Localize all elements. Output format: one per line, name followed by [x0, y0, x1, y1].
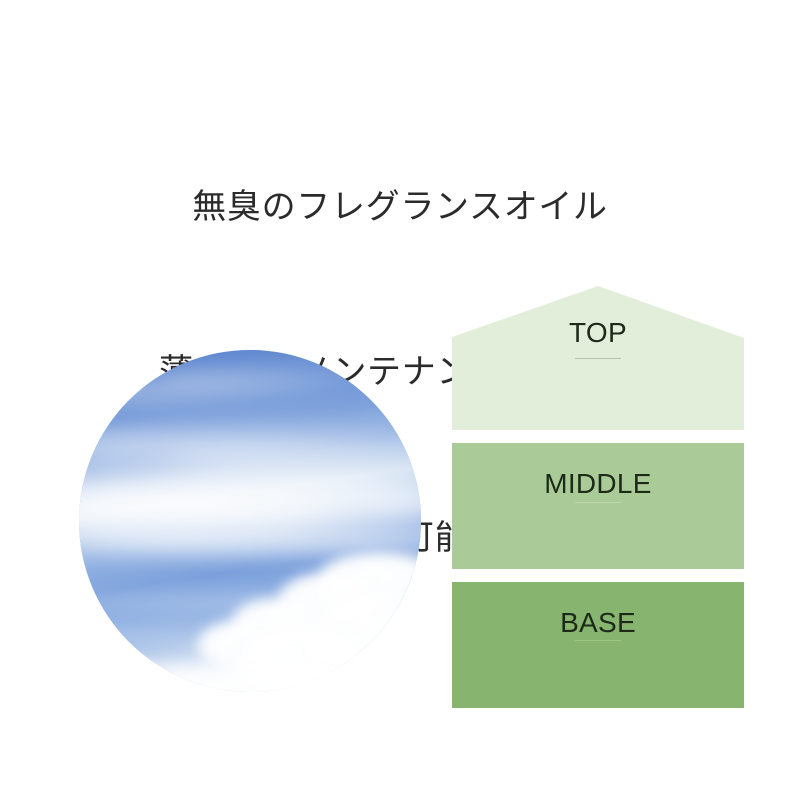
sky-clouds-illustration	[79, 350, 421, 692]
pyramid-tier-base-label: BASE	[452, 609, 744, 637]
poster-canvas: 無臭のフレグランスオイル 薄め液やメンテナンスとしても 使用可能	[0, 0, 800, 800]
fragrance-note-pyramid: TOP MIDDLE BASE	[452, 286, 744, 708]
pyramid-tier-middle-label: MIDDLE	[452, 470, 744, 498]
pyramid-tier-base: BASE	[452, 582, 744, 708]
pyramid-tier-middle-divider	[575, 502, 621, 503]
headline-line-1: 無臭のフレグランスオイル	[0, 180, 800, 235]
pyramid-tier-top-label: TOP	[452, 319, 744, 347]
sky-clouds-photo	[79, 350, 421, 692]
pyramid-tier-top: TOP	[452, 286, 744, 430]
pyramid-tier-base-divider	[575, 640, 621, 641]
pyramid-tier-middle: MIDDLE	[452, 443, 744, 569]
pyramid-tier-top-divider	[575, 358, 621, 359]
